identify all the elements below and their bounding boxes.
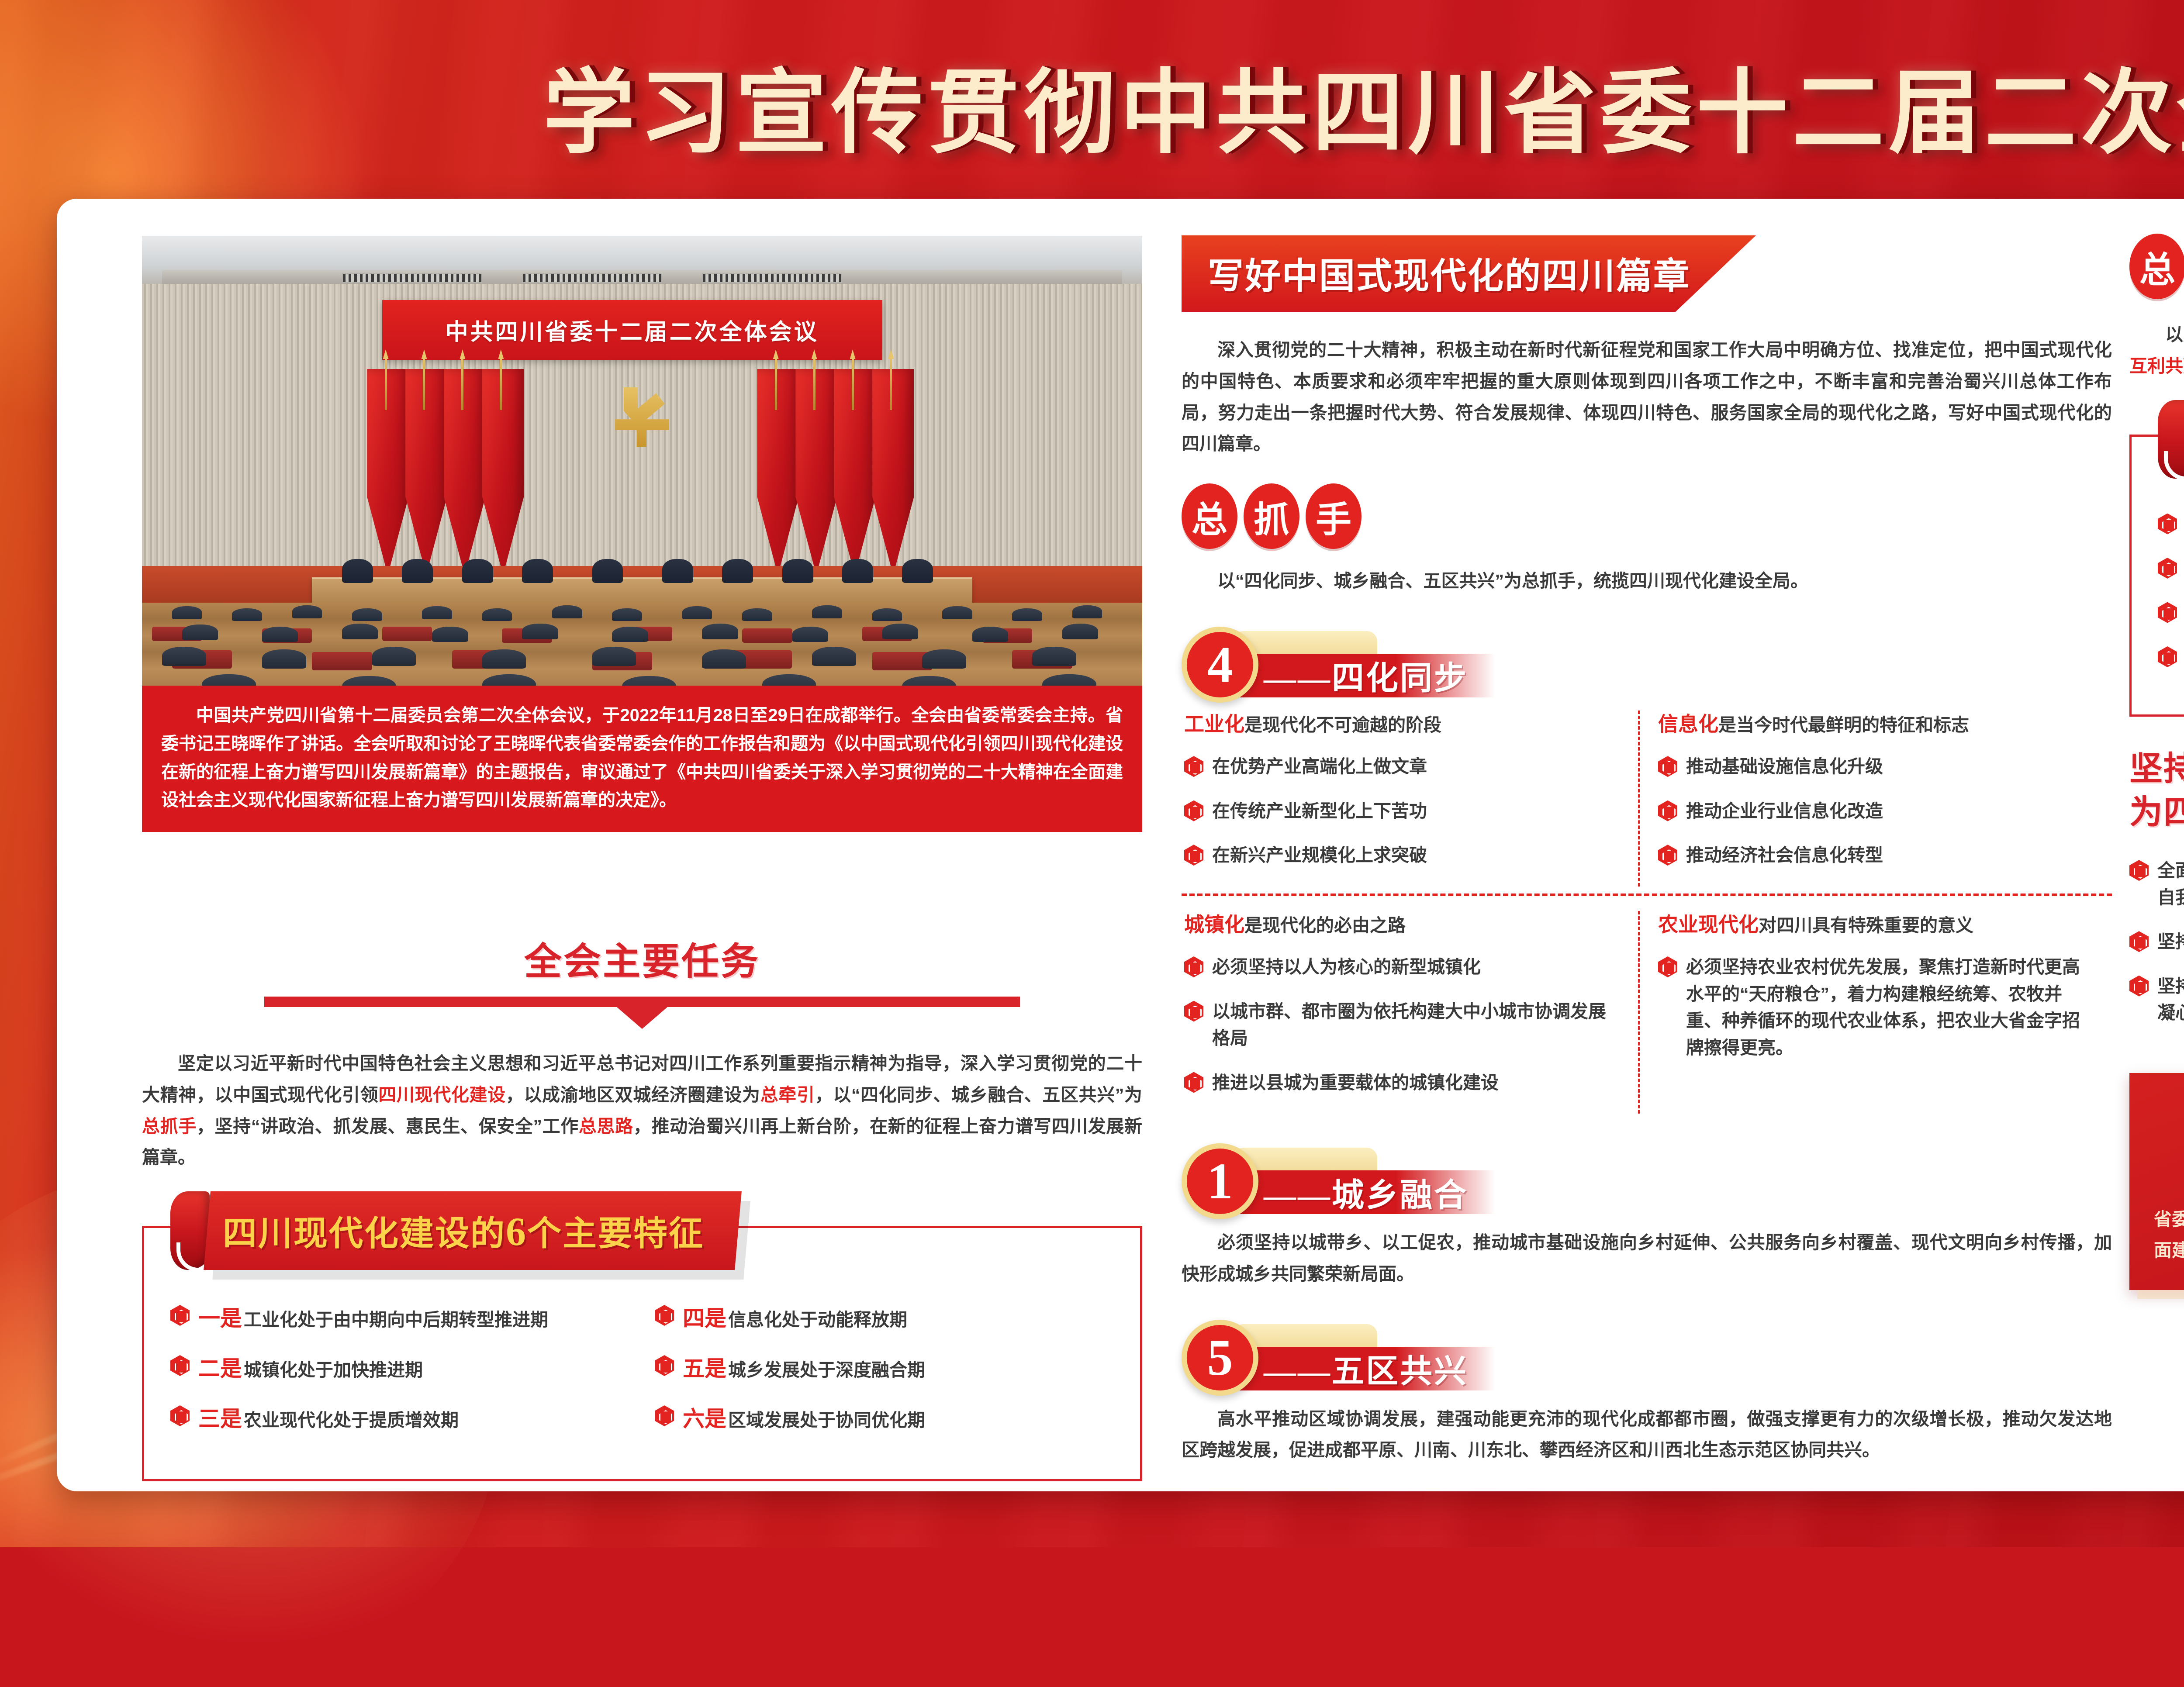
features-column-right: 四是信息化处于动能释放期 五是城乡发展处于深度融合期 六是区域发展处于协同优化期 xyxy=(655,1302,1114,1453)
feature-text: 城镇化处于加快推进期 xyxy=(244,1360,423,1380)
hexagon-bullet-icon xyxy=(1184,845,1203,866)
content-card: 中共四川省委十二届二次全体会议 xyxy=(57,199,2184,1491)
list-item: 一是工业化处于由中期向中后期转型推进期 xyxy=(170,1302,629,1335)
features-ribbon-header: 四川现代化建设的6个主要特征 xyxy=(170,1191,738,1270)
audience-area xyxy=(142,603,1142,694)
meeting-photo: 中共四川省委十二届二次全体会议 xyxy=(142,236,1142,694)
agriculture-desc: 对四川具有特殊重要的意义 xyxy=(1759,915,1973,935)
hexagon-bullet-icon xyxy=(1184,1001,1203,1022)
agriculture-lead: 农业现代化 xyxy=(1658,914,1759,936)
informatization-lead: 信息化 xyxy=(1658,713,1718,735)
right-column: 总 牵 引 以成渝地区双城经济圈建设作为四川现代化建设的总牵引，加强与重庆方面全… xyxy=(2129,234,2184,1290)
bullet-text: 全面推进党的自我净化、自我完善、自我革新、自我提高 xyxy=(2157,857,2184,911)
bullet-text: 推动企业行业信息化改造 xyxy=(1686,798,1883,825)
party-leadership-columns: 全面推进党的自我净化、自我完善、自我革新、自我提高 坚持把党的政治建设摆在首位 … xyxy=(2129,857,2184,1044)
bullet-text: 在新兴产业规模化上求突破 xyxy=(1212,842,1427,869)
feature-number: 六是 xyxy=(683,1407,726,1431)
bullet-text: 推动基础设施信息化升级 xyxy=(1686,753,1883,780)
party-leadership-heading-line1: 坚持和加强党的全面领导 xyxy=(2129,747,2184,791)
photo-caption: 中国共产党四川省第十二届委员会第二次全体会议，于2022年11月28日至29日在… xyxy=(142,686,1142,832)
urbanization-desc: 是现代化的必由之路 xyxy=(1244,915,1406,935)
list-item: 在新兴产业规模化上求突破 xyxy=(1184,842,1620,869)
bullet-text: 必须坚持农业农村优先发展，聚焦打造新时代更高水平的“天府粮仓”，着力构建粮经统筹… xyxy=(1686,954,2094,1061)
bullet-text: 在优势产业高端化上做文章 xyxy=(1212,753,1427,780)
middle-column: 写好中国式现代化的四川篇章 深入贯彻党的二十大精神，积极主动在新时代新征程党和国… xyxy=(1182,234,2112,1466)
hexagon-bullet-icon xyxy=(1184,956,1203,977)
bullet-text: 必须坚持以人为核心的新型城镇化 xyxy=(1212,954,1481,981)
chengxiang-number: 1 xyxy=(1182,1143,1258,1219)
list-item: 以城市群、都市圈为依托构建大中小城市协调发展格局 xyxy=(1184,998,1620,1052)
ribbon-curl-icon xyxy=(170,1191,210,1270)
main-task-highlight-4: 总思路 xyxy=(579,1116,633,1136)
hexagon-bullet-icon xyxy=(2158,646,2177,667)
sihua-bottom-grid: 城镇化是现代化的必由之路 必须坚持以人为核心的新型城镇化 以城市群、都市圈为依托… xyxy=(1182,911,2112,1114)
features-columns: 一是工业化处于由中期向中后期转型推进期 二是城镇化处于加快推进期 三是农业现代化… xyxy=(170,1302,1114,1453)
hexagon-bullet-icon xyxy=(2129,860,2149,881)
party-leadership-column-left: 全面推进党的自我净化、自我完善、自我革新、自我提高 坚持把党的政治建设摆在首位 … xyxy=(2129,857,2184,1044)
main-task-highlight-2: 总牵引 xyxy=(760,1085,815,1105)
bullet-text: 坚持把党的政治建设摆在首位 xyxy=(2157,928,2184,956)
poster-title-bar: 学习宣传贯彻中共四川省委十二届二次全会精神 xyxy=(0,0,2184,210)
list-item: 推进以县城为重要载体的城镇化建设 xyxy=(1184,1069,1620,1097)
meeting-hall-illustration: 中共四川省委十二届二次全体会议 xyxy=(142,236,1142,694)
hexagon-bullet-icon xyxy=(1184,800,1203,821)
call-text: 全省上下要更加紧密地团结在以习近平同志为核心的党中央周围，全面贯彻落实党的二十大… xyxy=(2154,1173,2184,1266)
stamp-char: 抓 xyxy=(1244,483,1299,549)
list-item: 全面推进党的自我净化、自我完善、自我革新、自我提高 xyxy=(2129,857,2184,911)
party-leadership-heading-line2: 为四川现代化建设提供坚强保证 xyxy=(2129,791,2184,835)
main-task-heading: 全会主要任务 xyxy=(142,931,1142,985)
traction-stamps: 总 牵 引 xyxy=(2129,234,2184,299)
main-task-highlight-1: 四川现代化建设 xyxy=(378,1085,505,1105)
chengxiang-paragraph: 必须坚持以城带乡、以工促农，推动城市基础设施向乡村延伸、公共服务向乡村覆盖、现代… xyxy=(1182,1227,2112,1290)
list-item: 把教育科技人才作为战略先导 xyxy=(2158,511,2184,538)
key-tasks-column-left: 把教育科技人才作为战略先导 把深化改革扩大开放作为根本动力 把发展全过程人民民主… xyxy=(2158,511,2184,688)
hexagon-bullet-icon xyxy=(655,1355,674,1376)
feature-number: 一是 xyxy=(198,1306,242,1331)
party-leadership-heading: 坚持和加强党的全面领导 为四川现代化建设提供坚强保证 xyxy=(2129,747,2184,835)
hexagon-bullet-icon xyxy=(170,1355,190,1376)
left-column: 全会主要任务 坚定以习近平新时代中国特色社会主义思想和习近平总书记对四川工作系列… xyxy=(142,906,1142,1481)
main-task-highlight-3: 总抓手 xyxy=(142,1116,197,1136)
wuqu-paragraph: 高水平推动区域协调发展，建强动能更充沛的现代化成都都市圈，做强支撑更有力的次级增… xyxy=(1182,1404,2112,1466)
feature-number: 三是 xyxy=(198,1407,242,1431)
industrialization-lead: 工业化 xyxy=(1184,713,1244,735)
sihua-top-grid: 工业化是现代化不可逾越的阶段 在优势产业高端化上做文章 在传统产业新型化上下苦功… xyxy=(1182,711,2112,887)
list-item: 三是农业现代化处于提质增效期 xyxy=(170,1403,629,1435)
list-item: 在优势产业高端化上做文章 xyxy=(1184,753,1620,780)
flag-group-left xyxy=(367,369,527,576)
bullet-text: 坚持不懈用习近平新时代中国特色社会主义思想凝心铸魂 xyxy=(2157,973,2184,1027)
list-item: 在传统产业新型化上下苦功 xyxy=(1184,798,1620,825)
hexagon-bullet-icon xyxy=(1658,756,1677,777)
informatization-desc: 是当今时代最鲜明的特征和标志 xyxy=(1718,715,1969,735)
traction-text-1: 以成渝地区双城经济圈建设作为四川现代化建设的总牵引， xyxy=(2165,324,2184,345)
list-item: 推动基础设施信息化升级 xyxy=(1658,753,2094,780)
feature-text: 信息化处于动能释放期 xyxy=(728,1310,907,1330)
hexagon-bullet-icon xyxy=(1184,1072,1203,1093)
list-item: 把文化自信自强作为持久精神力量 xyxy=(2158,644,2184,671)
list-item: 必须坚持以人为核心的新型城镇化 xyxy=(1184,954,1620,981)
hexagon-bullet-icon xyxy=(2129,976,2149,997)
feature-text: 城乡发展处于深度融合期 xyxy=(728,1360,925,1380)
hexagon-bullet-icon xyxy=(1658,956,1677,977)
hall-banner-text: 中共四川省委十二届二次全体会议 xyxy=(446,314,819,346)
chengxiang-label: ——城乡融合 xyxy=(1233,1169,1468,1216)
industrialization-cell: 工业化是现代化不可逾越的阶段 在优势产业高端化上做文章 在传统产业新型化上下苦功… xyxy=(1182,711,1640,887)
sihua-number-banner: ——四化同步 4 xyxy=(1182,623,2112,706)
hexagon-bullet-icon xyxy=(2158,602,2177,623)
hexagon-bullet-icon xyxy=(170,1305,190,1326)
industrialization-desc: 是现代化不可逾越的阶段 xyxy=(1244,715,1441,735)
features-ribbon-body: 四川现代化建设的6个主要特征 xyxy=(204,1191,742,1270)
bullet-text: 推动经济社会信息化转型 xyxy=(1686,842,1883,869)
stamp-char: 总 xyxy=(2129,234,2184,299)
hexagon-bullet-icon xyxy=(1658,845,1677,866)
hexagon-bullet-icon xyxy=(655,1405,674,1426)
chapter-heading: 写好中国式现代化的四川篇章 xyxy=(1208,256,1690,296)
list-item: 把深化改革扩大开放作为根本动力 xyxy=(2158,555,2184,582)
general-grip-paragraph: 以“四化同步、城乡融合、五区共兴”为总抓手，统揽四川现代化建设全局。 xyxy=(1182,566,2112,597)
stamp-char: 手 xyxy=(1306,483,1362,549)
sihua-dashed-divider xyxy=(1182,894,2112,896)
wuqu-number: 5 xyxy=(1182,1320,1258,1396)
hexagon-bullet-icon xyxy=(2158,558,2177,579)
ribbon-curl-icon xyxy=(2158,400,2184,479)
hexagon-bullet-icon xyxy=(1658,800,1677,821)
hexagon-bullet-icon xyxy=(1184,756,1203,777)
flag-group-right xyxy=(757,369,917,576)
feature-text: 工业化处于由中期向中后期转型推进期 xyxy=(244,1310,548,1330)
informatization-cell: 信息化是当今时代最鲜明的特征和标志 推动基础设施信息化升级 推动企业行业信息化改… xyxy=(1640,711,2112,887)
main-task-text-2: ，以成渝地区双城经济圈建设为 xyxy=(506,1085,760,1105)
feature-number: 四是 xyxy=(683,1306,726,1331)
features-column-left: 一是工业化处于由中期向中后期转型推进期 二是城镇化处于加快推进期 三是农业现代化… xyxy=(170,1302,629,1453)
feature-text: 区域发展处于协同优化期 xyxy=(728,1410,925,1430)
feature-number: 二是 xyxy=(198,1356,242,1381)
main-task-text-4: ，坚持“讲政治、抓发展、惠民生、保安全”工作 xyxy=(197,1116,579,1136)
urbanization-lead: 城镇化 xyxy=(1184,914,1244,936)
list-item: 五是城乡发展处于深度融合期 xyxy=(655,1352,1114,1385)
hall-banner: 中共四川省委十二届二次全体会议 xyxy=(382,300,882,360)
list-item: 推动企业行业信息化改造 xyxy=(1658,798,2094,825)
hexagon-bullet-icon xyxy=(170,1405,190,1426)
list-item: 四是信息化处于动能释放期 xyxy=(655,1302,1114,1335)
traction-paragraph: 以成渝地区双城经济圈建设作为四川现代化建设的总牵引，加强与重庆方面全方位协作，在… xyxy=(2129,319,2184,382)
bullet-text: 推进以县城为重要载体的城镇化建设 xyxy=(1212,1069,1499,1097)
general-grip-stamps: 总 抓 手 xyxy=(1182,483,2112,549)
key-tasks-box: 四川现代化建设的7项重点任务 把教育科技人才作为战略先导 把深化改革扩大开放作为… xyxy=(2129,435,2184,717)
hexagon-bullet-icon xyxy=(2129,931,2149,952)
poster-title: 学习宣传贯彻中共四川省委十二届二次全会精神 xyxy=(534,38,2184,171)
features-ribbon-number: 6 xyxy=(506,1209,527,1254)
features-box: 四川现代化建设的6个主要特征 一是工业化处于由中期向中后期转型推进期 二是城镇化… xyxy=(142,1226,1142,1481)
call-to-action-box: 全会号召 全省上下要更加紧密地团结在以习近平同志为核心的党中央周围，全面贯彻落实… xyxy=(2129,1073,2184,1290)
list-item: 坚持不懈用习近平新时代中国特色社会主义思想凝心铸魂 xyxy=(2129,973,2184,1027)
main-task-text-3: ，以“四化同步、城乡融合、五区共兴”为 xyxy=(815,1085,1142,1105)
feature-text: 农业现代化处于提质增效期 xyxy=(244,1410,459,1430)
sihua-label: ——四化同步 xyxy=(1233,652,1468,699)
list-item: 必须坚持农业农村优先发展，聚焦打造新时代更高水平的“天府粮仓”，着力构建粮经统筹… xyxy=(1658,954,2094,1061)
chengxiang-number-banner: ——城乡融合 1 xyxy=(1182,1140,2112,1223)
chapter-paragraph: 深入贯彻党的二十大精神，积极主动在新时代新征程党和国家工作大局中明确方位、找准定… xyxy=(1182,335,2112,460)
main-task-paragraph: 坚定以习近平新时代中国特色社会主义思想和习近平总书记对四川工作系列重要指示精神为… xyxy=(142,1048,1142,1173)
features-ribbon-prefix: 四川现代化建设的 xyxy=(223,1214,506,1252)
feature-number: 五是 xyxy=(683,1356,726,1381)
chapter-heading-banner: 写好中国式现代化的四川篇章 xyxy=(1182,235,1756,312)
features-ribbon-suffix: 个主要特征 xyxy=(527,1214,704,1252)
wuqu-label: ——五区共兴 xyxy=(1233,1345,1468,1392)
list-item: 二是城镇化处于加快推进期 xyxy=(170,1352,629,1385)
list-item: 把发展全过程人民民主作为重要保障 xyxy=(2158,600,2184,627)
bullet-text: 在传统产业新型化上下苦功 xyxy=(1212,798,1427,825)
list-item: 六是区域发展处于协同优化期 xyxy=(655,1403,1114,1435)
heading-arrow-divider xyxy=(264,997,1020,1029)
key-tasks-ribbon-header: 四川现代化建设的7项重点任务 xyxy=(2158,400,2184,479)
stamp-char: 总 xyxy=(1182,483,1237,549)
sihua-number: 4 xyxy=(1182,627,1258,703)
hexagon-bullet-icon xyxy=(655,1305,674,1326)
urbanization-cell: 城镇化是现代化的必由之路 必须坚持以人为核心的新型城镇化 以城市群、都市圈为依托… xyxy=(1182,911,1640,1114)
list-item: 推动经济社会信息化转型 xyxy=(1658,842,2094,869)
list-item: 坚持把党的政治建设摆在首位 xyxy=(2129,928,2184,956)
wuqu-number-banner: ——五区共兴 5 xyxy=(1182,1316,2112,1399)
agriculture-modernization-cell: 农业现代化对四川具有特殊重要的意义 必须坚持农业农村优先发展，聚焦打造新时代更高… xyxy=(1640,911,2112,1114)
hexagon-bullet-icon xyxy=(2158,514,2177,535)
key-tasks-columns: 把教育科技人才作为战略先导 把深化改革扩大开放作为根本动力 把发展全过程人民民主… xyxy=(2158,511,2184,688)
bullet-text: 以城市群、都市圈为依托构建大中小城市协调发展格局 xyxy=(1212,998,1620,1052)
